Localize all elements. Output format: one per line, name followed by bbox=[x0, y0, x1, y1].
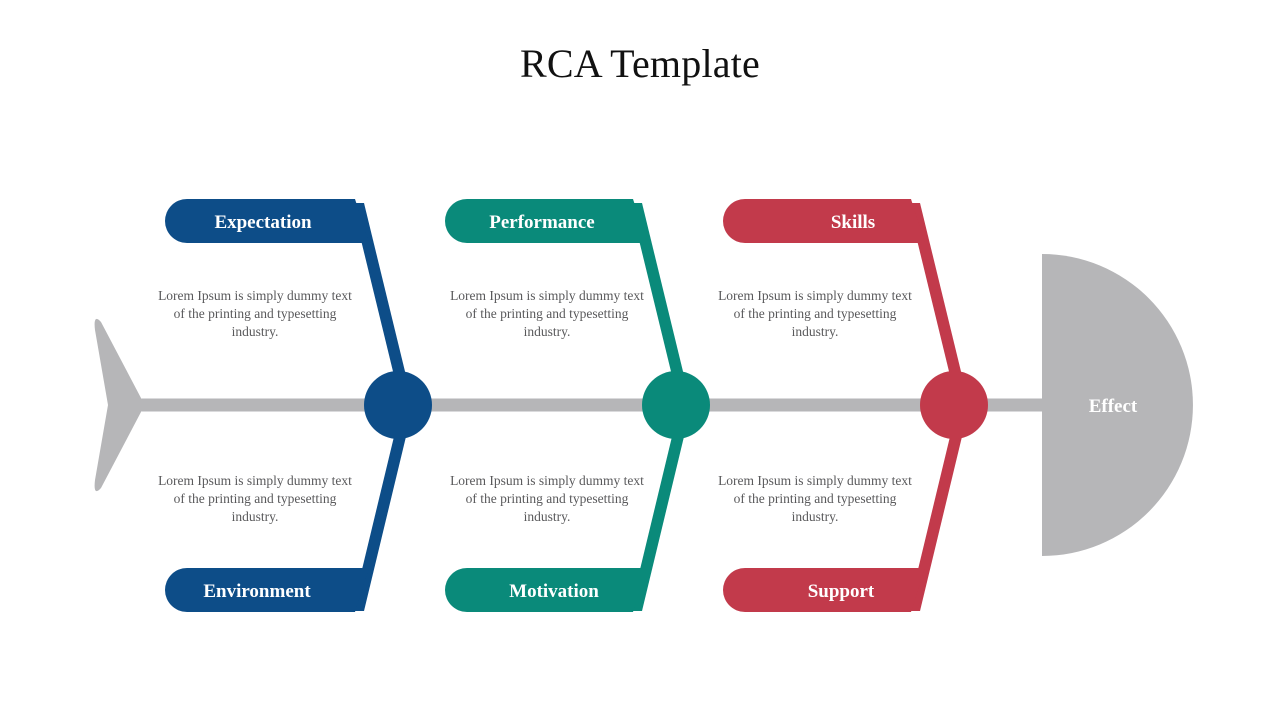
fishbone-diagram: Expectation Environment Performance Moti… bbox=[0, 0, 1280, 720]
joint-node-blue[interactable] bbox=[364, 371, 432, 439]
category-label-skills: Skills bbox=[831, 212, 875, 233]
joint-node-teal[interactable] bbox=[642, 371, 710, 439]
category-label-expectation: Expectation bbox=[214, 212, 312, 233]
category-chip-skills[interactable] bbox=[723, 199, 911, 243]
slide-canvas: RCA Template Expectation Environment Per… bbox=[0, 0, 1280, 720]
description-environment: Lorem Ipsum is simply dummy text of the … bbox=[155, 472, 355, 526]
category-label-performance: Performance bbox=[489, 212, 595, 233]
category-label-support: Support bbox=[808, 581, 875, 602]
joint-node-red[interactable] bbox=[920, 371, 988, 439]
description-expectation: Lorem Ipsum is simply dummy text of the … bbox=[155, 287, 355, 341]
description-motivation: Lorem Ipsum is simply dummy text of the … bbox=[447, 472, 647, 526]
category-label-motivation: Motivation bbox=[509, 581, 599, 602]
category-label-environment: Environment bbox=[203, 581, 311, 602]
effect-label: Effect bbox=[1089, 396, 1138, 417]
description-skills: Lorem Ipsum is simply dummy text of the … bbox=[715, 287, 915, 341]
description-performance: Lorem Ipsum is simply dummy text of the … bbox=[447, 287, 647, 341]
description-support: Lorem Ipsum is simply dummy text of the … bbox=[715, 472, 915, 526]
